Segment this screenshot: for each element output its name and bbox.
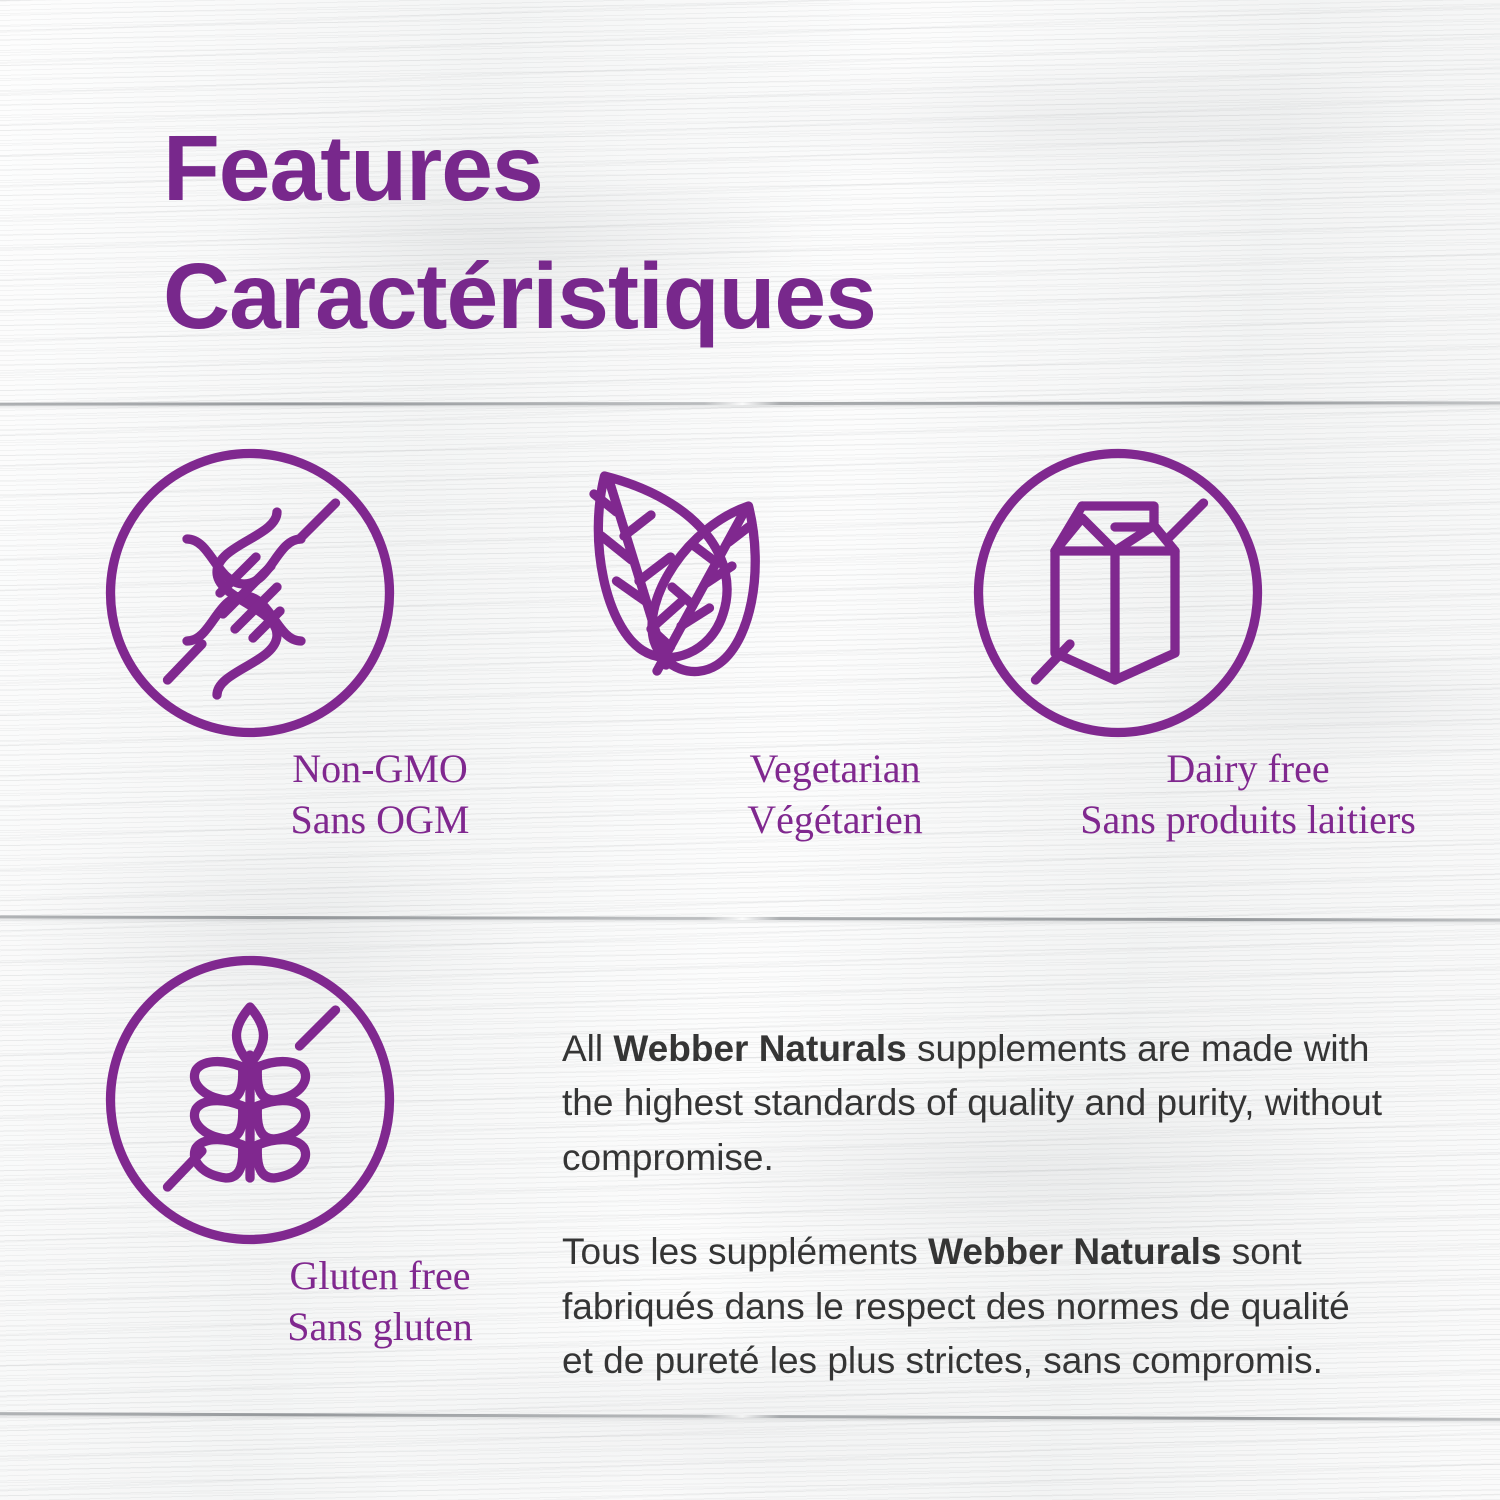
- brand-name-en: Webber Naturals: [613, 1028, 906, 1069]
- feature-dairy-free: Dairy free Sans produits laitiers: [968, 443, 1500, 845]
- statement-en-prefix: All: [562, 1028, 613, 1069]
- brand-statement-block: All Webber Naturals supplements are made…: [562, 1022, 1382, 1388]
- brand-statement-en: All Webber Naturals supplements are made…: [562, 1022, 1382, 1185]
- feature-caption-dairy-free: Dairy free Sans produits laitiers: [968, 743, 1500, 845]
- page-title-line-en: Features: [163, 104, 876, 232]
- brand-name-fr: Webber Naturals: [928, 1231, 1221, 1272]
- feature-label-fr: Sans produits laitiers: [968, 794, 1500, 845]
- statement-fr-prefix: Tous les suppléments: [562, 1231, 928, 1272]
- brand-statement-fr: Tous les suppléments Webber Naturals son…: [562, 1225, 1382, 1388]
- feature-label-en: Dairy free: [968, 743, 1500, 794]
- no-milk-carton-icon: [968, 443, 1500, 743]
- page-title-line-fr: Caractéristiques: [163, 232, 876, 360]
- page-title: Features Caractéristiques: [163, 104, 876, 361]
